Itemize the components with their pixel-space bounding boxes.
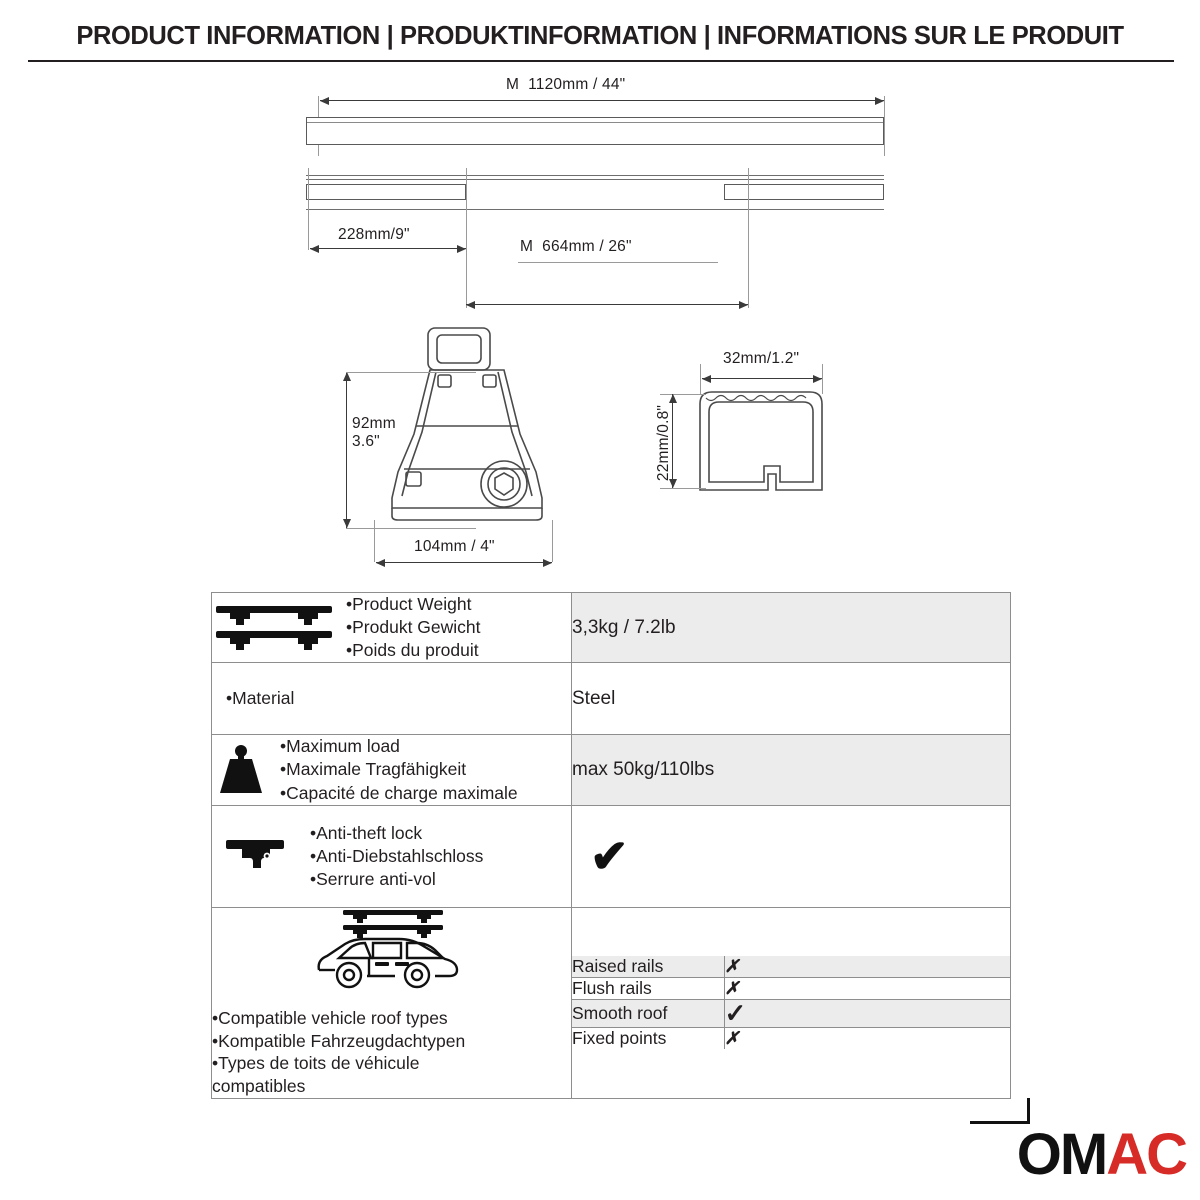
specification-table: •Product Weight •Produkt Gewicht •Poids … [211, 592, 1011, 1099]
page-title-text: PRODUCT INFORMATION | PRODUKTINFORMATION… [0, 22, 1200, 51]
checkmark-icon: ✔ [590, 830, 629, 882]
dimension-line-foot-width [376, 562, 552, 563]
mount-foot-left [306, 184, 466, 200]
dimension-bar-length-prefix: M [506, 76, 519, 93]
roof-types-table: Raised rails ✗ Flush rails ✗ [572, 956, 1010, 1049]
roof-type-mark: ✗ [724, 956, 1010, 978]
checkmark-icon: ✓ [725, 998, 747, 1028]
dimension-foot-height: 92mm 3.6" [352, 415, 396, 451]
table-row-anti-theft-lock: •Anti-theft lock •Anti-Diebstahlschloss … [212, 805, 1011, 907]
row-value-maximum-load: max 50kg/110lbs [572, 735, 1011, 805]
roof-type-mark: ✗ [724, 978, 1010, 1000]
roof-type-mark: ✓ [724, 1000, 1010, 1028]
dimension-line-foot-offset [310, 248, 466, 249]
bullet-line: •Material [226, 687, 565, 710]
row-label-maximum-load: •Maximum load •Maximale Tragfähigkeit •C… [212, 735, 572, 805]
bullet-line: •Serrure anti-vol [310, 868, 565, 891]
bullet-line: •Types de toits de véhicule [212, 1052, 571, 1075]
row-label-material: •Material [212, 663, 572, 735]
page-title: PRODUCT INFORMATION | PRODUKTINFORMATION… [0, 22, 1200, 51]
dimension-bar-length-value: 1120mm / 44" [528, 76, 625, 93]
roof-type-mark: ✗ [724, 1028, 1010, 1050]
table-row-product-weight: •Product Weight •Produkt Gewicht •Poids … [212, 593, 1011, 663]
lock-icon [224, 836, 286, 876]
row-label-text-maximum-load: •Maximum load •Maximale Tragfähigkeit •C… [280, 735, 571, 804]
bullet-line: •Maximum load [280, 735, 571, 758]
weight-icon [212, 741, 270, 799]
title-divider [28, 60, 1174, 62]
extension-line-right [884, 96, 885, 156]
dimension-bar-length: M1120mm / 44" [506, 76, 625, 94]
row-value-anti-theft-lock: ✔ [572, 805, 1011, 907]
crossbar-plan-view [306, 175, 884, 211]
logo-text-om: OM [1017, 1122, 1106, 1187]
extension-line-foot-left [466, 168, 467, 308]
row-value-product-weight: 3,3kg / 7.2lb [572, 593, 1011, 663]
extension-line-profile-left [700, 364, 701, 394]
crossbars-icon [212, 602, 336, 654]
dimension-spread-value: 664mm / 26" [542, 238, 632, 255]
extension-line-foot-wl [374, 520, 375, 562]
cross-icon: ✗ [725, 978, 740, 998]
dimension-line-foot-height [346, 372, 347, 528]
dimension-spread-prefix: M [520, 238, 533, 255]
bullet-line: •Product Weight [346, 593, 571, 616]
dimension-profile-width: 32mm/1.2" [723, 350, 799, 368]
plan-line-3 [306, 209, 884, 210]
extension-line-profile-right [822, 364, 823, 394]
table-row-maximum-load: •Maximum load •Maximale Tragfähigkeit •C… [212, 735, 1011, 805]
row-label-anti-theft-lock: •Anti-theft lock •Anti-Diebstahlschloss … [212, 805, 572, 907]
bullet-line: compatibles [212, 1075, 571, 1098]
extension-line-foot-top [346, 372, 476, 373]
roof-type-row-raised-rails: Raised rails ✗ [572, 956, 1010, 978]
roof-type-row-fixed-points: Fixed points ✗ [572, 1028, 1010, 1050]
row-label-product-weight: •Product Weight •Produkt Gewicht •Poids … [212, 593, 572, 663]
compat-text-block: •Compatible vehicle roof types •Kompatib… [212, 1007, 571, 1098]
row-label-text-material: •Material [226, 687, 565, 710]
roof-type-row-flush-rails: Flush rails ✗ [572, 978, 1010, 1000]
dimension-spread-underline [518, 262, 718, 263]
table-row-compatible-roof-types: •Compatible vehicle roof types •Kompatib… [212, 907, 1011, 1098]
omac-logo: OMAC [1017, 1126, 1186, 1184]
dimension-foot-height-line2: 3.6" [352, 433, 396, 451]
roof-type-row-smooth-roof: Smooth roof ✓ [572, 1000, 1010, 1028]
row-label-text-product-weight: •Product Weight •Produkt Gewicht •Poids … [346, 593, 571, 662]
cross-icon: ✗ [725, 1028, 740, 1048]
roof-type-name: Flush rails [572, 978, 724, 1000]
crossbar-cross-section [692, 386, 832, 504]
dimension-spread: M664mm / 26" [520, 238, 632, 256]
dimension-line-spread [466, 304, 748, 305]
car-with-rack-icon [307, 908, 477, 992]
logo-accent-bar-vertical [1027, 1098, 1030, 1124]
cross-icon: ✗ [725, 956, 740, 976]
row-value-material: Steel [572, 663, 1011, 735]
bullet-line: •Compatible vehicle roof types [212, 1007, 571, 1030]
bullet-line: •Anti-theft lock [310, 822, 565, 845]
extension-line-foot-right [748, 168, 749, 308]
extension-line-foot-bottom [346, 528, 476, 529]
table-row-material: •Material Steel [212, 663, 1011, 735]
crossbar-top-groove [307, 122, 883, 123]
plan-line-1 [306, 175, 884, 176]
bullet-line: •Anti-Diebstahlschloss [310, 845, 565, 868]
dimension-foot-offset: 228mm/9" [338, 226, 410, 244]
dimension-foot-height-line1: 92mm [352, 415, 396, 433]
dimension-profile-height: 22mm/0.8" [655, 393, 673, 493]
row-label-compatible-roof-types: •Compatible vehicle roof types •Kompatib… [212, 907, 572, 1098]
dimension-line-bar-length [320, 100, 884, 101]
row-label-text-anti-theft-lock: •Anti-theft lock •Anti-Diebstahlschloss … [310, 822, 565, 891]
bullet-line: •Kompatible Fahrzeugdachtypen [212, 1030, 571, 1053]
extension-line-foot-wr [552, 520, 553, 562]
bullet-line: •Poids du produit [346, 639, 571, 662]
bullet-line: •Capacité de charge maximale [280, 782, 571, 805]
dimension-line-profile-width [702, 378, 822, 379]
plan-line-2 [306, 179, 884, 180]
logo-text-ac: AC [1106, 1122, 1186, 1187]
dimension-foot-width: 104mm / 4" [414, 538, 495, 556]
bullet-line: •Produkt Gewicht [346, 616, 571, 639]
roof-type-name: Smooth roof [572, 1000, 724, 1028]
crossbar-side-view [306, 117, 884, 145]
roof-type-name: Raised rails [572, 956, 724, 978]
bullet-line: •Maximale Tragfähigkeit [280, 758, 571, 781]
roof-type-name: Fixed points [572, 1028, 724, 1050]
extension-line-bar-start [308, 168, 309, 250]
roof-types-cell: Raised rails ✗ Flush rails ✗ [572, 907, 1011, 1098]
product-information-sheet: PRODUCT INFORMATION | PRODUKTINFORMATION… [0, 0, 1200, 1200]
